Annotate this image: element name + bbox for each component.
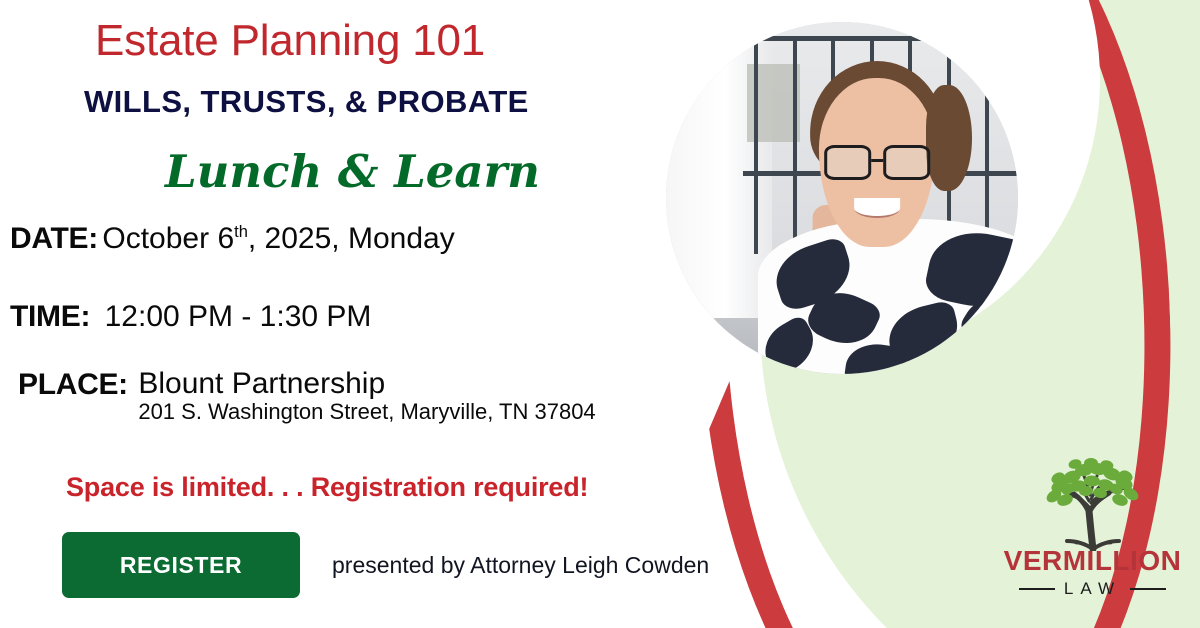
logo-subtitle: LAW [1064,579,1121,599]
presenter-credit: presented by Attorney Leigh Cowden [332,552,709,579]
script-tagline: Lunch & Learn [165,145,540,198]
place-name: Blount Partnership [138,367,385,400]
register-button[interactable]: REGISTER [62,532,300,598]
vermillion-law-logo: VERMILLION LAW [995,455,1190,599]
tree-icon [1034,455,1152,551]
logo-subtitle-row: LAW [995,579,1190,599]
logo-rule-left [1019,588,1055,590]
time-label: TIME: [10,300,90,333]
place-label: PLACE: [18,368,128,401]
date-value-suffix: , 2025, Monday [248,222,455,255]
date-ordinal-suffix: th [234,223,248,241]
page-subtitle: WILLS, TRUSTS, & PROBATE [84,84,529,120]
presenter-portrait-photo [666,22,1018,374]
detail-row-date: DATE: October 6th, 2025, Monday [10,222,455,256]
portrait-hair-side [926,85,972,191]
portrait-smile [854,198,900,218]
date-value-prefix: October 6 [102,222,234,255]
logo-rule-right [1130,588,1166,590]
event-flyer: Estate Planning 101 WILLS, TRUSTS, & PRO… [0,0,1200,628]
place-value-stack: Blount Partnership 201 S. Washington Str… [138,368,595,426]
place-address: 201 S. Washington Street, Maryville, TN … [138,399,595,424]
date-value: October 6th, 2025, Monday [102,222,454,255]
limited-space-notice: Space is limited. . . Registration requi… [66,472,588,503]
page-title: Estate Planning 101 [95,16,485,66]
logo-name: VERMILLION [995,547,1190,575]
detail-row-place: PLACE: Blount Partnership 201 S. Washing… [18,368,596,426]
date-label: DATE: [10,222,98,255]
portrait-eyeglasses [824,145,930,180]
detail-row-time: TIME: 12:00 PM - 1:30 PM [10,300,371,334]
time-value: 12:00 PM - 1:30 PM [105,300,372,333]
